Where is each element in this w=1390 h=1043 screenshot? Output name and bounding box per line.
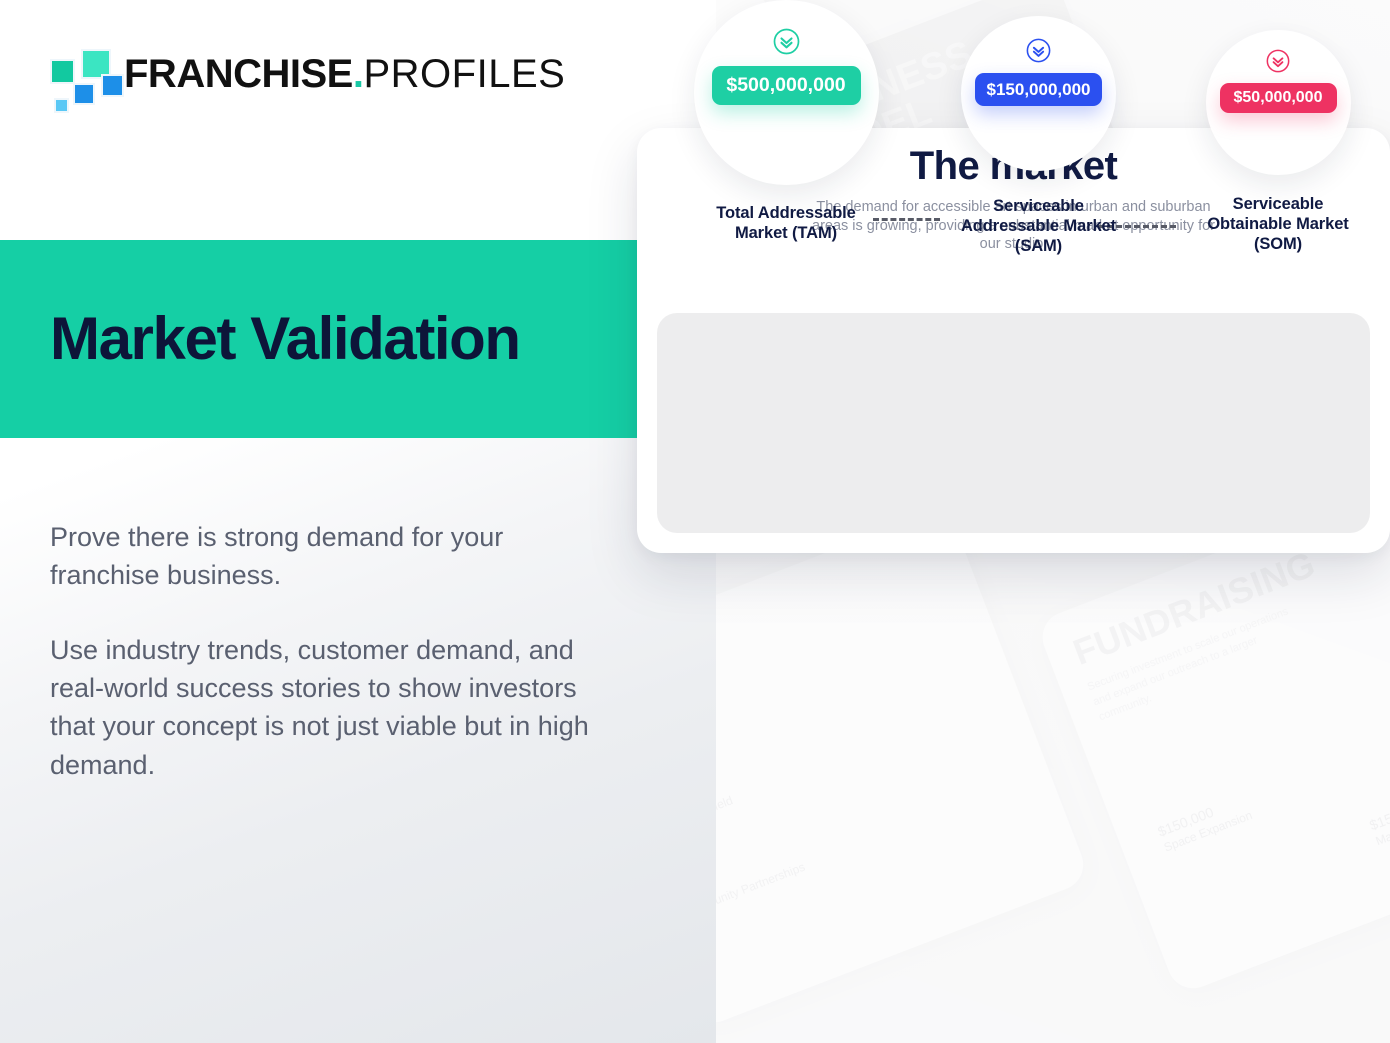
- funnel-label-sam-line1: Serviceable: [936, 196, 1141, 216]
- funnel-label-tam-line1: Total Addressable: [686, 203, 886, 223]
- funnel-node-som[interactable]: $50,000,000 Serviceable Obtainable Marke…: [1178, 30, 1378, 254]
- brand-logo[interactable]: FRANCHISE.PROFILES: [48, 42, 565, 106]
- logo-squares-icon: [48, 48, 110, 100]
- brand-name-dot: .: [353, 52, 364, 96]
- body-copy: Prove there is strong demand for your fr…: [50, 518, 595, 784]
- body-paragraph-1: Prove there is strong demand for your fr…: [50, 518, 595, 595]
- funnel-label-som-line3: (SOM): [1178, 234, 1378, 254]
- double-chevron-down-icon[interactable]: [773, 28, 800, 55]
- logo-square-blue-2: [101, 74, 124, 97]
- funnel-label-sam-line3: (SAM): [936, 236, 1141, 256]
- funnel-label-sam-line2: Addressable Market: [936, 216, 1141, 236]
- funnel-value-sam: $150,000,000: [975, 73, 1102, 106]
- funnel-bubble-sam: $150,000,000: [961, 16, 1116, 171]
- funnel-bubble-som: $50,000,000: [1206, 30, 1351, 175]
- brand-wordmark: FRANCHISE.PROFILES: [124, 54, 565, 94]
- left-panel: FRANCHISE.PROFILES Market Validation Pro…: [0, 0, 716, 1043]
- funnel-label-sam: Serviceable Addressable Market (SAM): [936, 196, 1141, 256]
- double-chevron-down-icon[interactable]: [1266, 49, 1290, 73]
- funnel-node-sam[interactable]: $150,000,000 Serviceable Addressable Mar…: [936, 16, 1141, 256]
- funnel-label-som: Serviceable Obtainable Market (SOM): [1178, 194, 1378, 254]
- logo-square-blue-1: [73, 83, 95, 105]
- funnel-bubble-tam: $500,000,000: [694, 0, 879, 185]
- funnel-value-tam: $500,000,000: [712, 66, 861, 105]
- brand-name-bold: FRANCHISE: [124, 52, 353, 96]
- brand-name-thin: PROFILES: [363, 52, 565, 96]
- double-chevron-down-icon[interactable]: [1026, 38, 1051, 63]
- funnel-label-tam: Total Addressable Market (TAM): [686, 203, 886, 243]
- banner-market-validation: Market Validation: [0, 240, 637, 438]
- funnel-backdrop-panel: [657, 313, 1370, 533]
- logo-square-teal-dark: [50, 59, 75, 84]
- funnel-value-som: $50,000,000: [1220, 83, 1337, 113]
- body-paragraph-2: Use industry trends, customer demand, an…: [50, 631, 595, 784]
- funnel-node-tam[interactable]: $500,000,000 Total Addressable Market (T…: [686, 0, 886, 243]
- funnel-label-som-line1: Serviceable: [1178, 194, 1378, 214]
- funnel-label-som-line2: Obtainable Market: [1178, 214, 1378, 234]
- page-title: Market Validation: [0, 309, 520, 369]
- funnel-label-tam-line2: Market (TAM): [686, 223, 886, 243]
- logo-square-blue-light: [54, 98, 69, 113]
